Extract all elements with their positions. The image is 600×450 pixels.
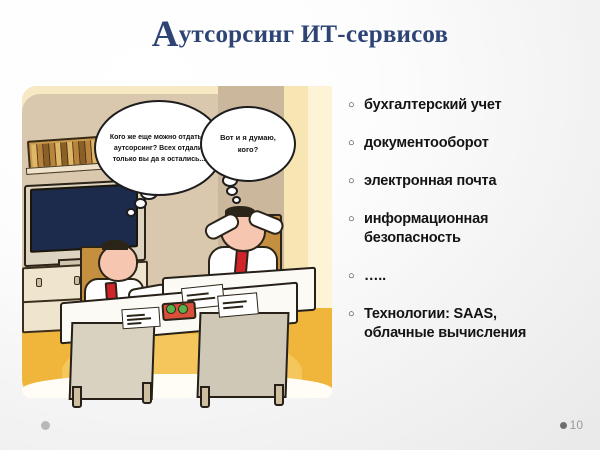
- desk-foot: [274, 384, 284, 406]
- page-number: 10: [560, 418, 583, 432]
- title-drop-cap: А: [152, 14, 179, 55]
- list-item[interactable]: ○ документооборот: [348, 134, 596, 153]
- desk-foot: [142, 382, 152, 404]
- list-item-label: …..: [364, 267, 386, 286]
- list-item[interactable]: ○ бухгалтерский учет: [348, 96, 596, 115]
- page-number-dot-icon: [560, 422, 567, 429]
- paper-document: [121, 307, 160, 330]
- list-item-label: бухгалтерский учет: [364, 96, 501, 115]
- bullet-marker: ○: [348, 210, 364, 229]
- decorative-dot-icon: [41, 421, 50, 430]
- slide: Аутсорсинг ИТ-сервисов: [0, 0, 600, 450]
- list-item[interactable]: ○ …..: [348, 267, 596, 286]
- speech-tail-left: [126, 208, 136, 217]
- list-item-label: электронная почта: [364, 172, 496, 191]
- cartoon-illustration: Кого же еще можно отдать в аутсорсинг? В…: [22, 86, 332, 396]
- speech-tail-right: [232, 196, 241, 204]
- cabinet-knob: [36, 278, 42, 287]
- bullet-list: ○ бухгалтерский учет ○ документооборот ○…: [348, 96, 596, 362]
- bullet-marker: ○: [348, 134, 364, 153]
- bullet-marker: ○: [348, 96, 364, 115]
- desk-foot: [200, 386, 210, 408]
- list-item-label: информационная безопасность: [364, 210, 488, 248]
- bullet-marker: ○: [348, 267, 364, 286]
- title-text: утсорсинг ИТ-сервисов: [179, 21, 449, 48]
- speech-tail-left: [134, 198, 147, 209]
- list-item-label: Технологии: SAAS, облачные вычисления: [364, 305, 526, 343]
- page-number-label: 10: [570, 418, 583, 432]
- telephone-dial: [166, 304, 176, 314]
- speech-bubble-right-text: Вот и я думаю, кого?: [202, 132, 294, 156]
- speech-bubble-right: Вот и я думаю, кого?: [200, 106, 296, 182]
- list-item[interactable]: ○ информационная безопасность: [348, 210, 596, 248]
- speech-tail-right: [226, 186, 238, 196]
- desk-foot: [72, 386, 82, 408]
- page-title: Аутсорсинг ИТ-сервисов: [0, 20, 600, 50]
- list-item[interactable]: ○ электронная почта: [348, 172, 596, 191]
- paper-document: [217, 292, 259, 317]
- bullet-marker: ○: [348, 172, 364, 191]
- telephone-dial: [178, 304, 188, 314]
- person-left-hair: [102, 240, 128, 250]
- list-item[interactable]: ○ Технологии: SAAS, облачные вычисления: [348, 305, 596, 343]
- list-item-label: документооборот: [364, 134, 489, 153]
- bullet-marker: ○: [348, 305, 364, 324]
